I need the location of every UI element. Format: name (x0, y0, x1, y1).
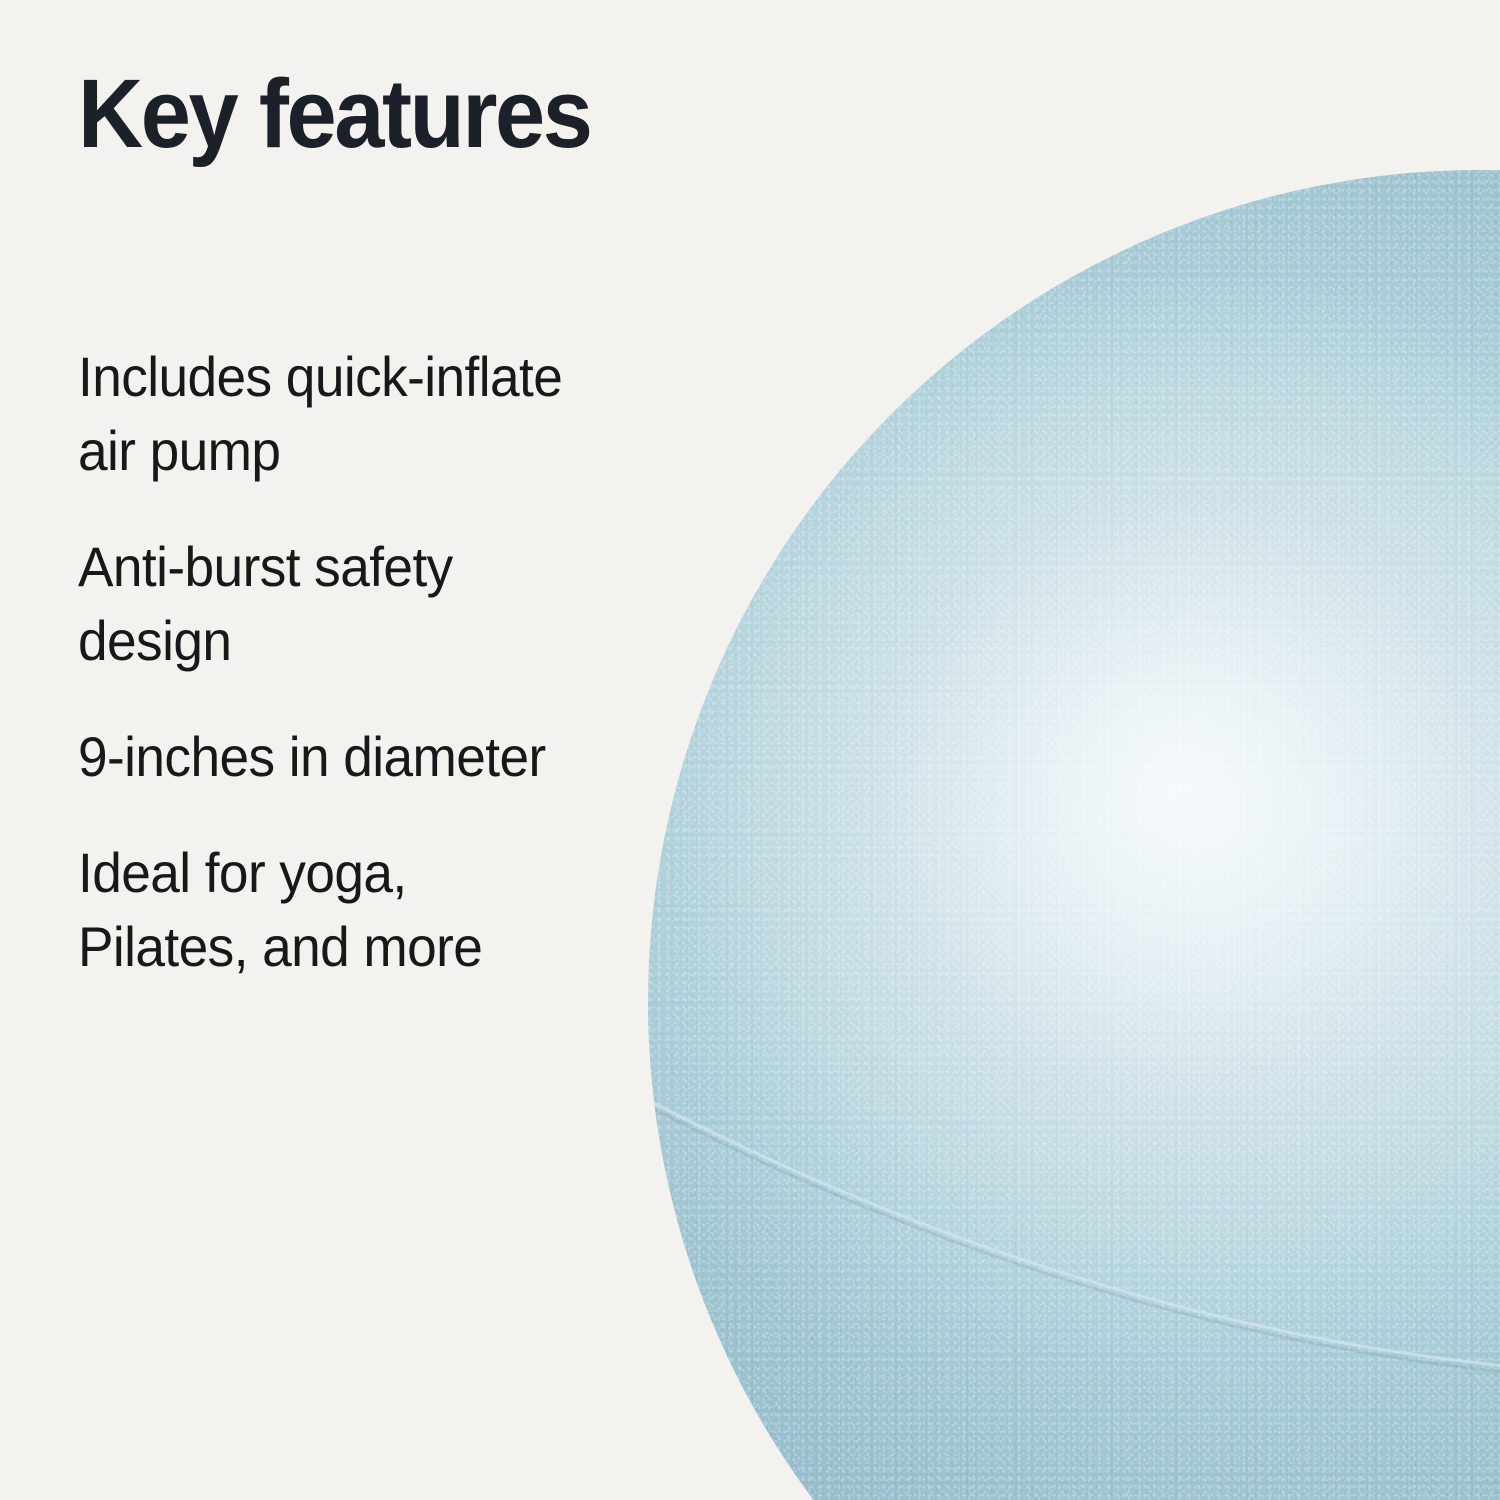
feature-item-ideal-for-yoga-pilates: Ideal for yoga, Pilates, and more (78, 836, 667, 984)
exercise-ball-sphere (648, 170, 1500, 1500)
ball-texture-fine (648, 170, 1500, 1500)
product-feature-card: Key features Includes quick-inflate air … (0, 0, 1500, 1500)
feature-item-quick-inflate-air-pump: Includes quick-inflate air pump (78, 340, 667, 488)
feature-item-anti-burst-safety-design: Anti-burst safety design (78, 530, 667, 678)
page-title: Key features (78, 0, 655, 167)
feature-item-diameter: 9-inches in diameter (78, 720, 667, 794)
text-column: Key features Includes quick-inflate air … (78, 0, 698, 167)
feature-list: Includes quick-inflate air pump Anti-bur… (78, 340, 698, 984)
